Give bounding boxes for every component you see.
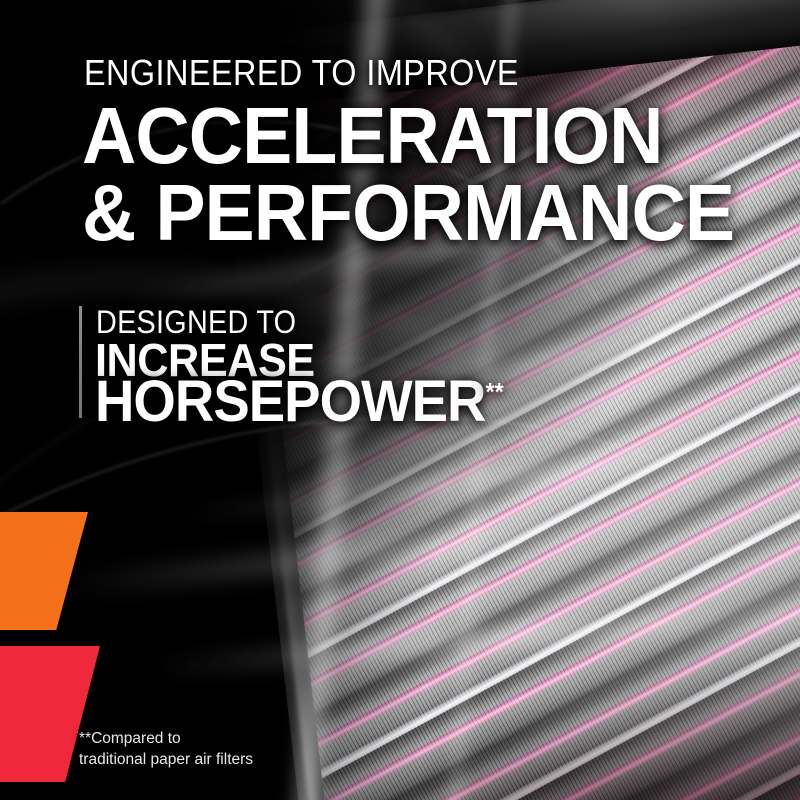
horsepower-footnote-marker: ** bbox=[485, 379, 503, 407]
sub-headline-horsepower: HORSEPOWER** bbox=[95, 373, 504, 431]
promotional-banner: ENGINEERED TO IMPROVE ACCELERATION & PER… bbox=[0, 0, 800, 800]
banner-kicker: ENGINEERED TO IMPROVE bbox=[84, 55, 519, 91]
footnote-line-1: **Compared to bbox=[79, 729, 253, 750]
headline-line-1: ACCELERATION bbox=[82, 91, 663, 180]
sub-headline-horsepower-text: HORSEPOWER bbox=[95, 369, 485, 434]
headline-line-2: & PERFORMANCE bbox=[82, 175, 734, 252]
footnote-line-2: traditional paper air filters bbox=[79, 750, 253, 771]
vertical-divider-rule bbox=[79, 306, 82, 418]
orange-angled-accent-shape bbox=[0, 512, 88, 630]
footnote: **Compared to traditional paper air filt… bbox=[79, 729, 253, 771]
banner-headline: ACCELERATION & PERFORMANCE bbox=[82, 98, 734, 252]
